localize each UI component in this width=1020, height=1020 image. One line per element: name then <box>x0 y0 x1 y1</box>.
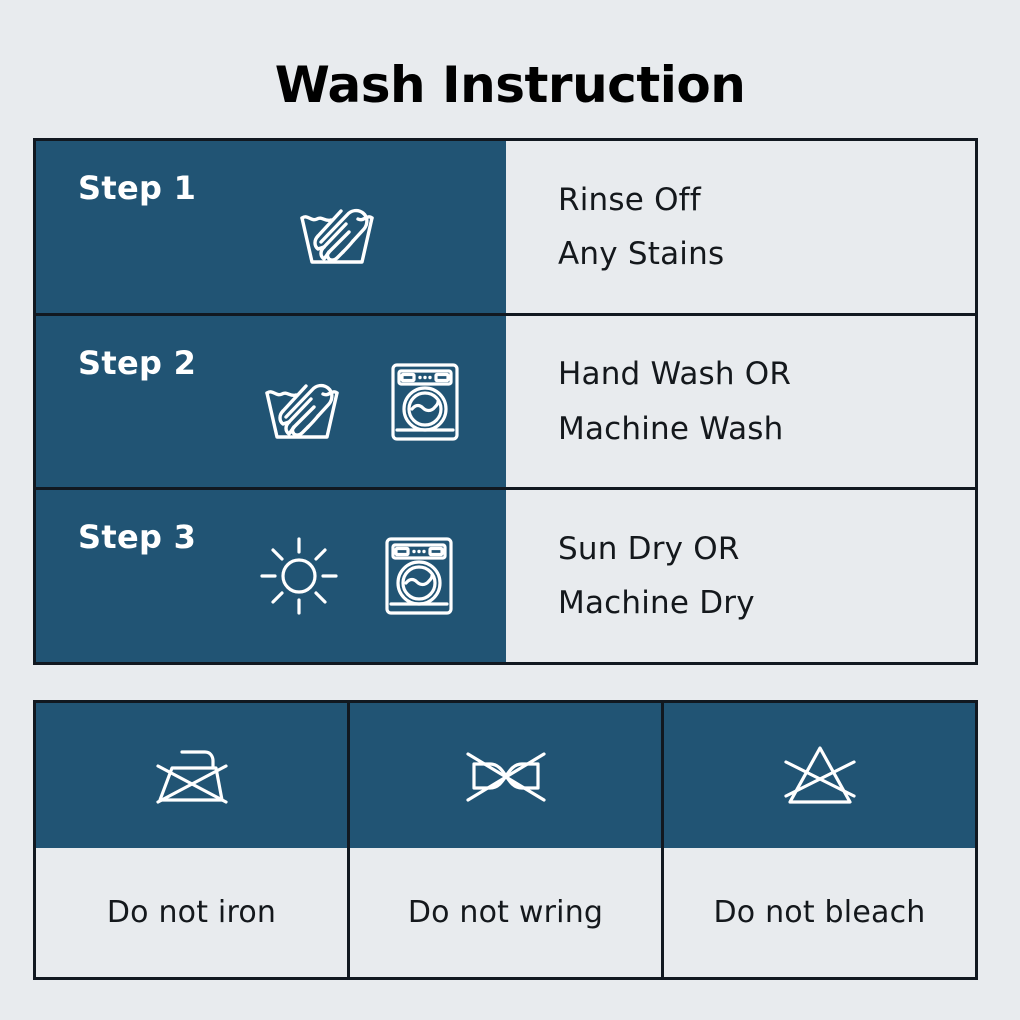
sun-icon <box>256 533 342 619</box>
step-1-text-line-1: Rinse Off <box>558 173 975 227</box>
do-not-iron-symbol-cell <box>36 703 347 848</box>
step-3-text-line-1: Sun Dry OR <box>558 522 975 576</box>
do-not-bleach-icon <box>772 738 868 814</box>
step-1-label: Step 1 <box>78 169 196 207</box>
step-1-panel: Step 1 <box>36 141 506 313</box>
step-2-text: Hand Wash OR Machine Wash <box>506 316 975 488</box>
step-3-panel: Step 3 <box>36 490 506 662</box>
step-1-text: Rinse Off Any Stains <box>506 141 975 313</box>
washing-machine-icon <box>388 359 462 445</box>
care-label: Do not bleach <box>714 895 926 930</box>
step-row: Step 1 <box>36 141 975 316</box>
wash-instruction-poster: Wash Instruction Step 1 <box>0 0 1020 1020</box>
do-not-iron-icon <box>142 738 242 814</box>
do-not-bleach-label-cell: Do not bleach <box>664 848 975 977</box>
care-label: Do not iron <box>107 895 276 930</box>
step-3-text-line-2: Machine Dry <box>558 576 975 630</box>
care-column-do-not-bleach: Do not bleach <box>664 703 975 977</box>
step-3-text: Sun Dry OR Machine Dry <box>506 490 975 662</box>
do-not-bleach-symbol-cell <box>664 703 975 848</box>
do-not-wring-label-cell: Do not wring <box>350 848 661 977</box>
page-title: Wash Instruction <box>0 56 1020 114</box>
step-2-panel: Step 2 <box>36 316 506 488</box>
step-3-label: Step 3 <box>78 518 196 556</box>
step-1-text-line-2: Any Stains <box>558 227 975 281</box>
hand-wash-icon <box>256 359 348 445</box>
steps-table: Step 1 <box>33 138 978 665</box>
washing-machine-icon <box>382 533 456 619</box>
do-not-iron-label-cell: Do not iron <box>36 848 347 977</box>
do-not-wring-symbol-cell <box>350 703 661 848</box>
step-3-icons <box>236 490 486 662</box>
step-row: Step 3 <box>36 490 975 662</box>
step-row: Step 2 <box>36 316 975 491</box>
care-column-do-not-iron: Do not iron <box>36 703 350 977</box>
care-symbols-table: Do not iron Do not wring <box>33 700 978 980</box>
step-2-text-line-2: Machine Wash <box>558 402 975 456</box>
care-label: Do not wring <box>408 895 603 930</box>
do-not-wring-icon <box>452 738 560 814</box>
hand-wash-icon <box>291 184 383 270</box>
care-column-do-not-wring: Do not wring <box>350 703 664 977</box>
step-1-icons <box>236 141 486 313</box>
step-2-icons <box>236 316 486 488</box>
step-2-label: Step 2 <box>78 344 196 382</box>
step-2-text-line-1: Hand Wash OR <box>558 347 975 401</box>
